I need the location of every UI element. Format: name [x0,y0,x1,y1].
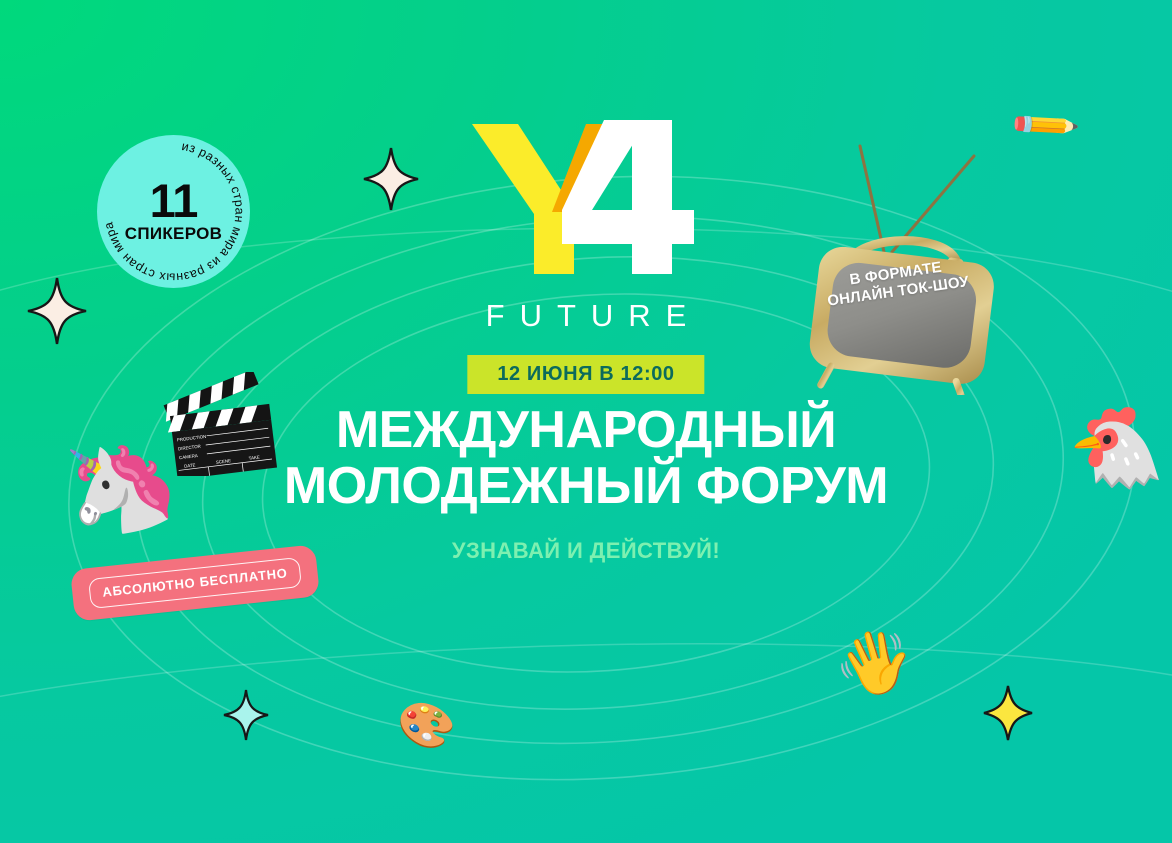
logo-mark-y4 [466,118,706,278]
logo-four-stem [632,120,672,274]
tv-screen [825,260,979,371]
artist-palette-icon: 🎨 [394,697,460,754]
waving-hand-icon: 👋 [830,624,920,703]
logo-subtitle: FUTURE [471,300,702,331]
sparkle-left-upper-icon [26,276,88,351]
speakers-badge: из разных стран мира из разных стран мир… [97,135,250,288]
speakers-count: 11 [150,179,198,222]
speakers-label: СПИКЕРОВ [125,224,222,244]
sparkle-top-center-icon [362,146,420,217]
tv-antenna [860,146,974,252]
promo-poster: FUTURE 12 ИЮНЯ В 12:00 МЕЖДУНАРОДНЫЙ МОЛ… [0,0,1172,843]
retro-tv-illustration: В ФОРМАТЕ ОНЛАЙН ТОК-ШОУ [806,140,1006,395]
sparkle-bottom-left-icon [222,688,270,747]
clapperboard-illustration: PRODUCTION DIRECTOR CAMERA DATE SCENE TA… [162,372,280,476]
free-badge-label: АБСОЛЮТНО БЕСПЛАТНО [88,557,302,609]
tv-leg-left [821,365,831,386]
event-date-chip: 12 ИЮНЯ В 12:00 [467,355,704,394]
chicken-icon: 🐔 [1068,408,1165,486]
logo-four-crossbar [562,210,694,244]
sparkle-bottom-right-icon [982,684,1034,747]
